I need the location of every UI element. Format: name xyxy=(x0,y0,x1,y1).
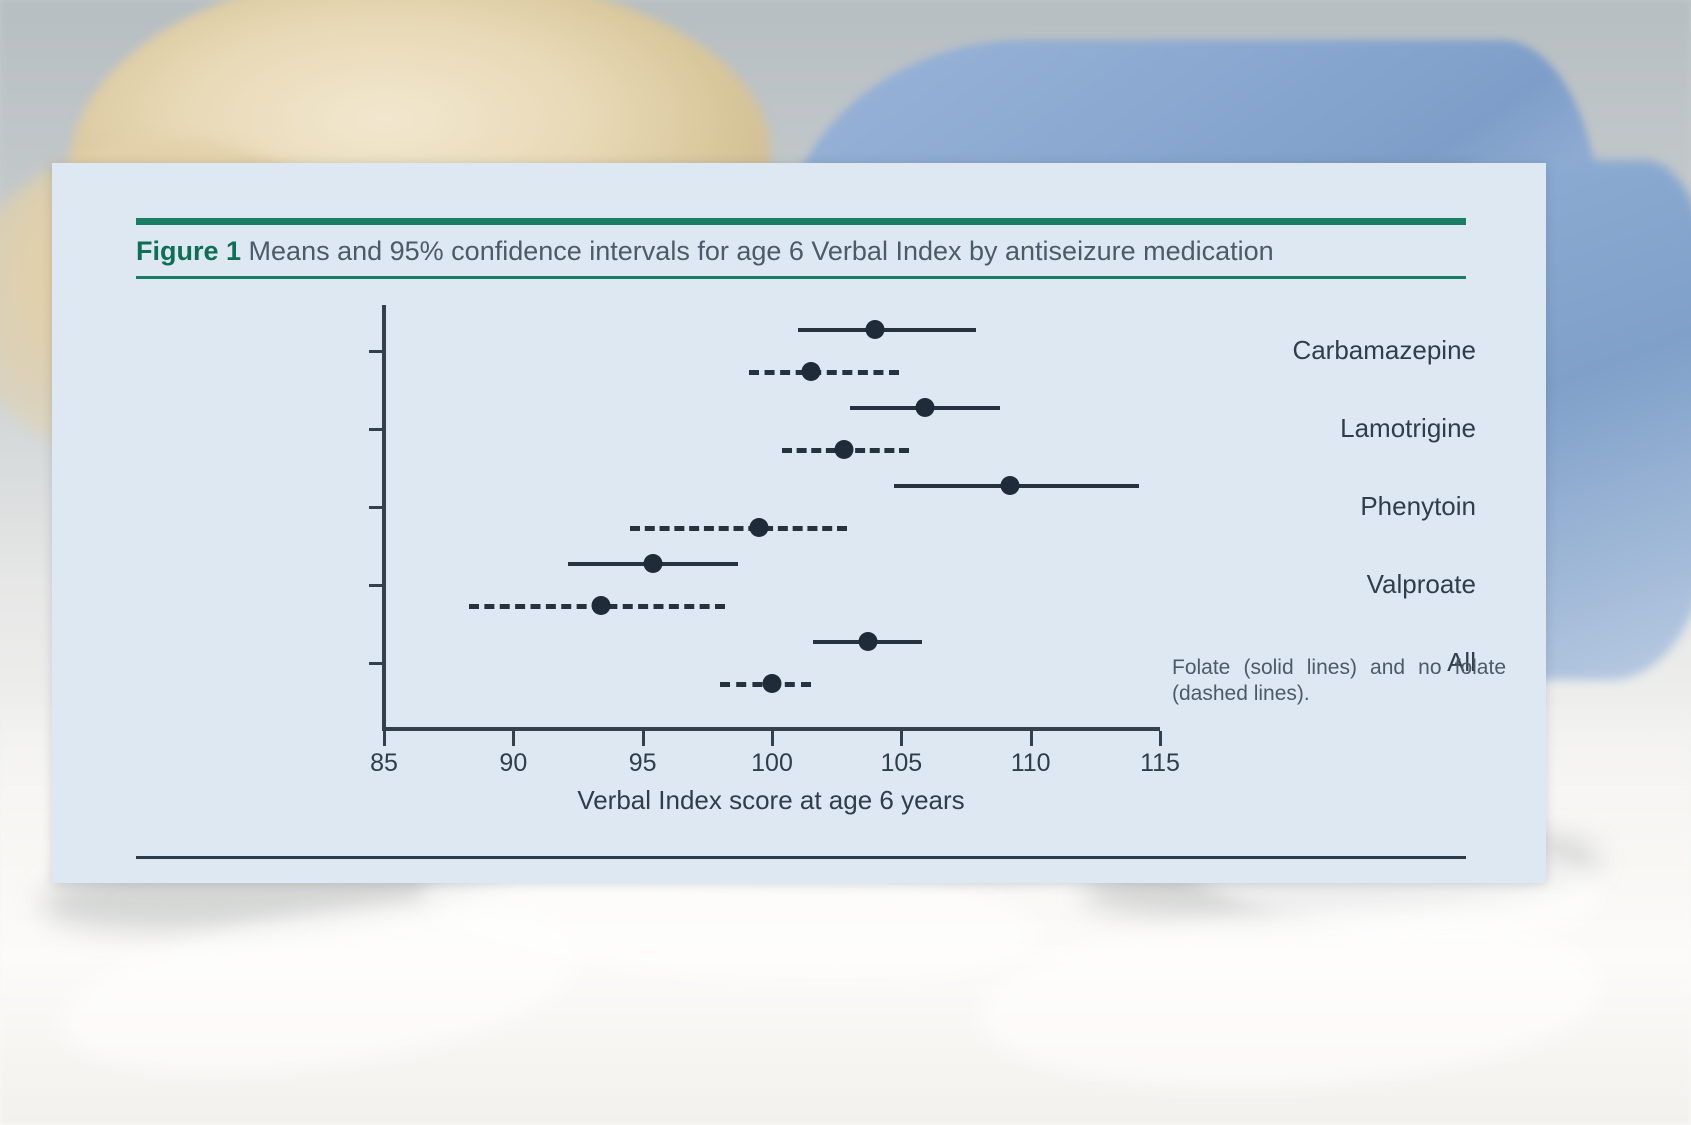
mean-marker xyxy=(592,596,611,615)
y-axis-label-carbamazepine: Carbamazepine xyxy=(1256,335,1476,366)
y-axis-tick xyxy=(369,428,383,431)
y-axis-label-valproate: Valproate xyxy=(1256,569,1476,600)
y-axis-label-lamotrigine: Lamotrigine xyxy=(1256,413,1476,444)
y-axis-line xyxy=(382,305,386,730)
x-axis-tick xyxy=(900,731,903,746)
y-axis-tick xyxy=(369,584,383,587)
mean-marker xyxy=(644,554,663,573)
mean-marker xyxy=(915,398,934,417)
x-axis-tick xyxy=(1030,731,1033,746)
figure-bottom-rule xyxy=(136,856,1466,859)
confidence-interval-line xyxy=(749,370,899,375)
y-axis-tick xyxy=(369,662,383,665)
x-axis-tick-label: 95 xyxy=(629,749,657,778)
figure-caption: Figure 1 Means and 95% confidence interv… xyxy=(136,233,1476,269)
mean-marker xyxy=(801,362,820,381)
x-axis-tick xyxy=(642,731,645,746)
x-axis-tick-label: 90 xyxy=(499,749,527,778)
figure-footnote: Folate (solid lines) and no folate (dash… xyxy=(1172,655,1506,707)
mean-marker xyxy=(835,440,854,459)
x-axis-tick-label: 110 xyxy=(1011,749,1051,778)
x-axis-tick-label: 100 xyxy=(751,749,793,778)
forest-plot: CarbamazepineLamotriginePhenytoinValproa… xyxy=(136,303,1476,848)
y-axis-tick xyxy=(369,350,383,353)
x-axis-tick xyxy=(383,731,386,746)
mean-marker xyxy=(763,674,782,693)
confidence-interval-line xyxy=(798,328,976,332)
mean-marker xyxy=(866,320,885,339)
confidence-interval-line xyxy=(630,526,847,531)
x-axis-tick-label: 105 xyxy=(880,749,922,778)
figure-top-rule xyxy=(136,218,1466,225)
mean-marker xyxy=(858,632,877,651)
figure-caption-text: Means and 95% confidence intervals for a… xyxy=(249,236,1274,266)
figure-number: Figure 1 xyxy=(136,236,241,266)
y-axis-tick xyxy=(369,506,383,509)
x-axis-tick xyxy=(1159,731,1162,746)
y-axis-label-phenytoin: Phenytoin xyxy=(1256,491,1476,522)
x-axis-tick-label: 85 xyxy=(370,749,398,778)
figure-caption-rule xyxy=(136,276,1466,279)
figure-card: Figure 1 Means and 95% confidence interv… xyxy=(52,163,1546,883)
x-axis-tick xyxy=(512,731,515,746)
mean-marker xyxy=(1000,476,1019,495)
x-axis-tick xyxy=(771,731,774,746)
x-axis-title: Verbal Index score at age 6 years xyxy=(382,785,1160,816)
x-axis-tick-label: 115 xyxy=(1140,749,1180,778)
mean-marker xyxy=(750,518,769,537)
